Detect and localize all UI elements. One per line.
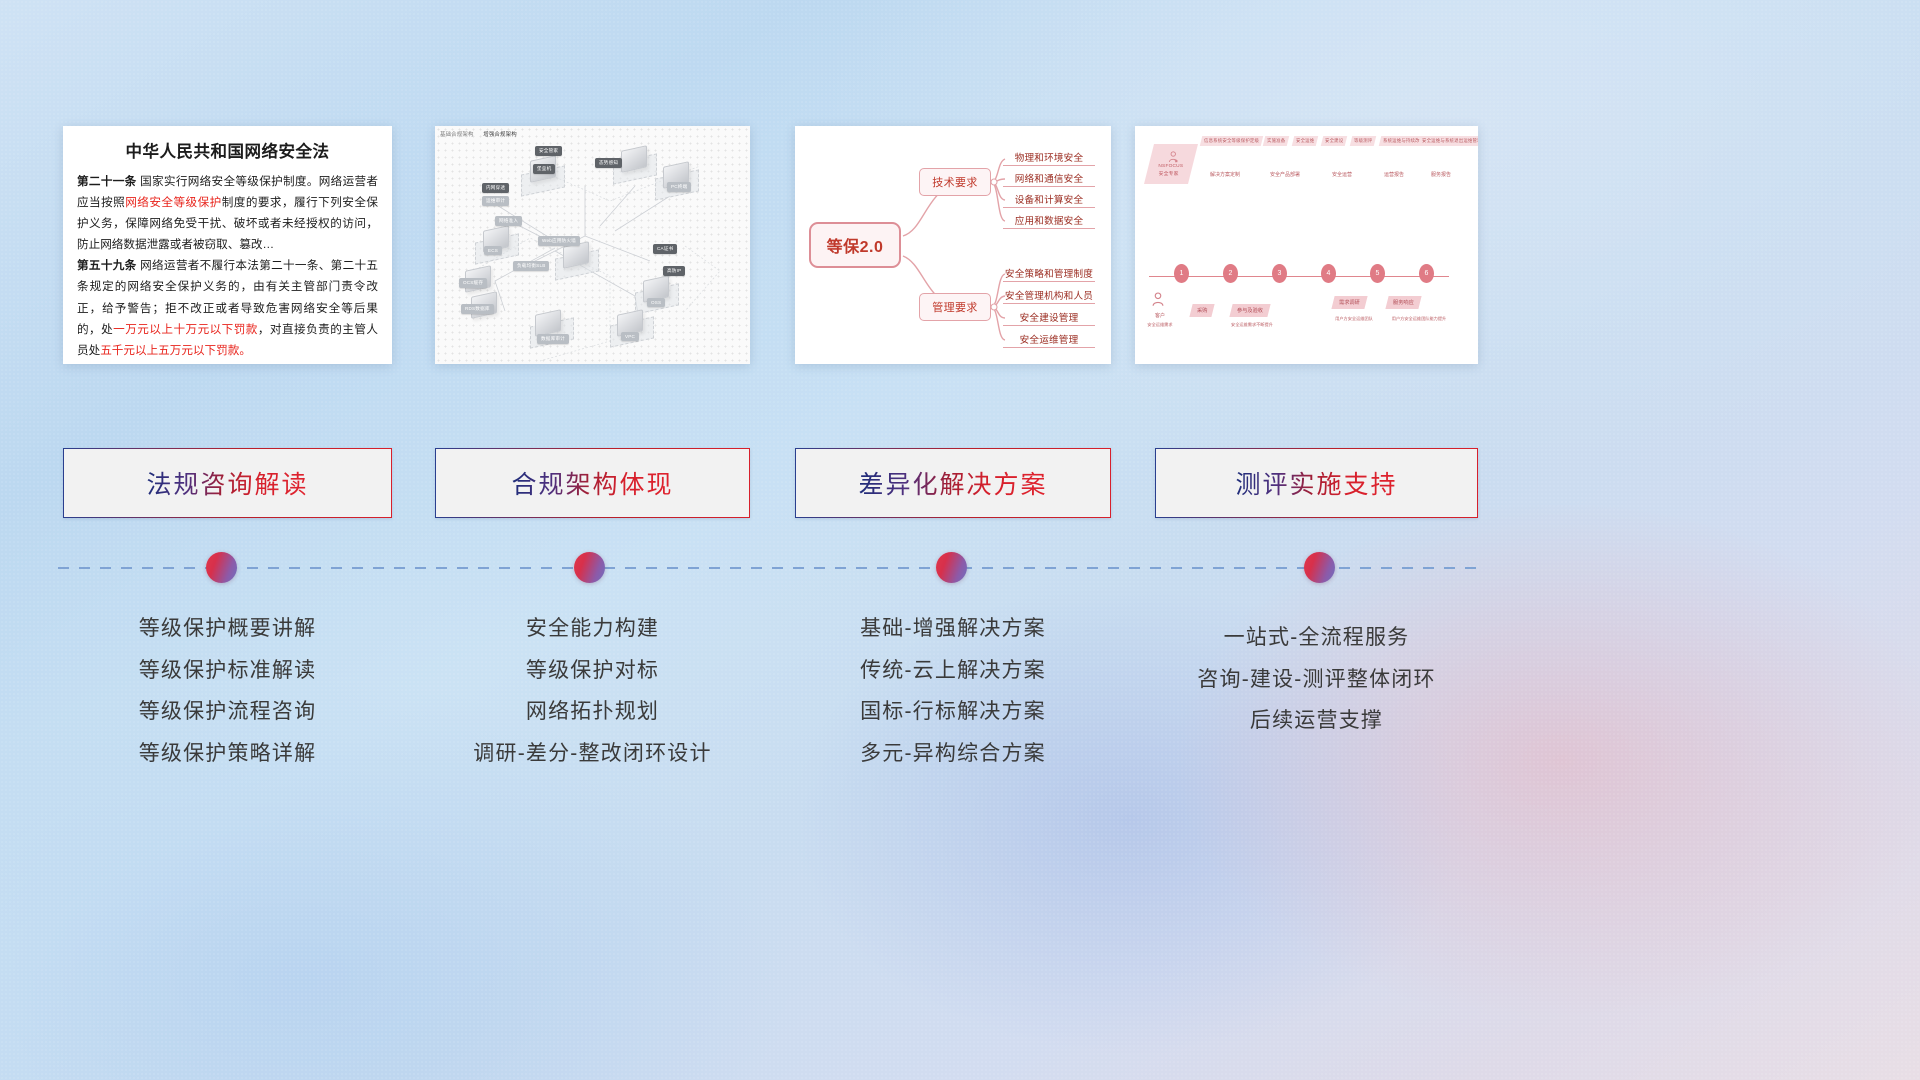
card-compliance-architecture[interactable]: 基础合规架构 增强合规架构 — [435, 126, 750, 364]
arch-chip: ECS — [484, 246, 502, 255]
customer-icon — [1151, 292, 1165, 310]
timeline-dot-2[interactable] — [574, 552, 605, 583]
arch-chip: 态势感知 — [595, 158, 622, 168]
timeline-top-chip: 等级测评 — [1350, 136, 1377, 146]
detail-list-regulation-consulting: 等级保护概要讲解 等级保护标准解读 等级保护流程咨询 等级保护策略详解 — [63, 608, 392, 774]
arch-chip: 数据库审计 — [537, 334, 569, 344]
timeline-top-chip: 安全运维与系统退出运维管理 — [1418, 136, 1478, 146]
timeline-dot-4[interactable] — [1304, 552, 1335, 583]
timeline-phase-label: 安全产品部署 — [1259, 171, 1311, 178]
expert-badge: NSFOCUS 安全专家 — [1144, 144, 1198, 184]
article-21-highlight: 网络安全等级保护 — [125, 196, 221, 209]
detail-list-assessment-support: 一站式-全流程服务 咨询-建设-测评整体闭环 后续运营支撑 — [1155, 617, 1478, 742]
timeline-phase-label: 运营报告 — [1371, 171, 1417, 178]
timeline-top-chip: 安全运维 — [1292, 136, 1319, 146]
timeline-top-chip: 信息系统安全等级保护定级 — [1200, 136, 1264, 146]
mindmap-branch-technical[interactable]: 技术要求 — [919, 168, 991, 196]
mindmap-leaf: 安全建设管理 — [1003, 308, 1095, 326]
timeline-top-chip: 安全建设 — [1321, 136, 1348, 146]
timeline-bottom-note: 安全运维需求不断提升 — [1221, 322, 1283, 328]
arch-chip: 安全管家 — [535, 146, 562, 156]
list-item: 一站式-全流程服务 — [1155, 617, 1478, 659]
timeline-node[interactable]: 5 — [1370, 264, 1385, 283]
detail-list-differentiated-solution: 基础-增强解决方案 传统-云上解决方案 国标-行标解决方案 多元-异构综合方案 — [795, 608, 1111, 774]
list-item: 国标-行标解决方案 — [795, 691, 1111, 733]
arch-chip: Web应用防火墙 — [538, 236, 580, 246]
list-item: 传统-云上解决方案 — [795, 650, 1111, 692]
list-item: 多元-异构综合方案 — [795, 733, 1111, 775]
arch-chip: PC终端 — [667, 182, 691, 192]
image-card-row: 中华人民共和国网络安全法 第二十一条 国家实行网络安全等级保护制度。网络运营者应… — [0, 126, 1920, 364]
arch-chip: CA证书 — [653, 244, 677, 254]
heading-text: 测评实施支持 — [1235, 465, 1397, 501]
arch-chip: 堡垒机 — [533, 164, 555, 174]
law-content: 中华人民共和国网络安全法 第二十一条 国家实行网络安全等级保护制度。网络运营者应… — [63, 126, 392, 364]
timeline-top-chip: 实施准备 — [1263, 136, 1290, 146]
timeline-bottom-tag: 参与及验收 — [1229, 304, 1270, 317]
timeline-bottom-tag: 服务响应 — [1385, 296, 1421, 309]
arch-chip: 负载均衡SLB — [513, 261, 549, 271]
expert-badge-line2: 安全专家 — [1159, 170, 1179, 177]
timeline-node[interactable]: 2 — [1223, 264, 1238, 283]
architecture-tabs[interactable]: 基础合规架构 增强合规架构 — [440, 130, 525, 138]
architecture-diagram: 基础合规架构 增强合规架构 — [435, 126, 750, 364]
heading-text: 法规咨询解读 — [146, 465, 308, 501]
arch-chip: 网络准入 — [495, 216, 522, 226]
list-item: 安全能力构建 — [435, 608, 750, 650]
arch-chip: 内网穿透 — [482, 183, 509, 193]
timeline-bottom-note: 用户方安全运维团队 — [1321, 316, 1387, 322]
timeline-node[interactable]: 6 — [1419, 264, 1434, 283]
customer-label: 客户 — [1145, 312, 1175, 319]
timeline-dashed-line — [58, 567, 1482, 569]
detail-list-compliance-architecture: 安全能力构建 等级保护对标 网络拓扑规划 调研-差分-整改闭环设计 — [435, 608, 750, 774]
timeline-infographic: NSFOCUS 安全专家 信息系统安全等级保护定级 实施准备 安全运维 安全建设… — [1135, 126, 1478, 364]
mindmap-leaf: 应用和数据安全 — [1003, 211, 1095, 229]
mindmap-root-node[interactable]: 等保2.0 — [809, 222, 901, 268]
timeline-dot-3[interactable] — [936, 552, 967, 583]
list-item: 等级保护流程咨询 — [63, 691, 392, 733]
mindmap-leaf: 物理和环境安全 — [1003, 148, 1095, 166]
list-item: 等级保护标准解读 — [63, 650, 392, 692]
timeline-node[interactable]: 4 — [1321, 264, 1336, 283]
card-assessment-timeline[interactable]: NSFOCUS 安全专家 信息系统安全等级保护定级 实施准备 安全运维 安全建设… — [1135, 126, 1478, 364]
timeline-node[interactable]: 3 — [1272, 264, 1287, 283]
timeline-node[interactable]: 1 — [1174, 264, 1189, 283]
article-59-highlight-2: 五千元以上五万元以下罚款。 — [100, 344, 251, 357]
heading-box-assessment-support[interactable]: 测评实施支持 — [1155, 448, 1478, 518]
timeline-bottom-tag: 需求调研 — [1331, 296, 1367, 309]
arch-tab-enhanced[interactable]: 增强合规架构 — [483, 132, 517, 138]
expert-badge-line1: NSFOCUS — [1158, 164, 1183, 169]
article-21-label: 第二十一条 — [77, 175, 137, 188]
arch-chip: OSS — [647, 298, 665, 307]
law-article-59: 第五十九条 网络运营者不履行本法第二十一条、第二十五条规定的网络安全保护义务的，… — [77, 255, 378, 360]
list-item: 等级保护概要讲解 — [63, 608, 392, 650]
arch-chip: RDS数据库 — [461, 304, 494, 314]
mindmap-leaf: 安全管理机构和人员 — [1003, 286, 1095, 304]
law-title: 中华人民共和国网络安全法 — [77, 138, 378, 162]
list-item: 等级保护对标 — [435, 650, 750, 692]
arch-chip: OCS缓存 — [459, 278, 487, 288]
timeline-bottom-tag: 采购 — [1189, 304, 1215, 317]
heading-row: 法规咨询解读 合规架构体现 差异化解决方案 测评实施支持 — [0, 448, 1920, 518]
arch-chip: 高防IP — [663, 266, 685, 276]
mindmap-branch-management[interactable]: 管理要求 — [919, 293, 991, 321]
timeline-phase-label: 安全运营 — [1319, 171, 1365, 178]
timeline-bottom-note: 用户方安全运维团队能力提升 — [1383, 316, 1455, 322]
list-item: 基础-增强解决方案 — [795, 608, 1111, 650]
list-item: 调研-差分-整改闭环设计 — [435, 733, 750, 775]
mindmap-leaf: 安全运维管理 — [1003, 330, 1095, 348]
list-item: 后续运营支撑 — [1155, 700, 1478, 742]
heading-box-regulation-consulting[interactable]: 法规咨询解读 — [63, 448, 392, 518]
heading-text: 差异化解决方案 — [858, 465, 1047, 501]
arch-chip: VPC — [621, 332, 639, 341]
arch-tab-basic[interactable]: 基础合规架构 — [440, 132, 474, 138]
customer-note: 安全运维需求 — [1139, 322, 1181, 328]
timeline-phase-label: 服务报告 — [1419, 171, 1463, 178]
expert-icon — [1167, 151, 1178, 163]
customer-person-icon — [1151, 292, 1165, 307]
heading-box-differentiated-solution[interactable]: 差异化解决方案 — [795, 448, 1111, 518]
heading-box-compliance-architecture[interactable]: 合规架构体现 — [435, 448, 750, 518]
mindmap-leaf: 安全策略和管理制度 — [1003, 264, 1095, 282]
mindmap-leaf: 网络和通信安全 — [1003, 169, 1095, 187]
mindmap-leaf: 设备和计算安全 — [1003, 190, 1095, 208]
heading-text: 合规架构体现 — [511, 465, 673, 501]
timeline-phase-label: 解决方案定制 — [1199, 171, 1251, 178]
list-item: 等级保护策略详解 — [63, 733, 392, 775]
card-cybersecurity-law[interactable]: 中华人民共和国网络安全法 第二十一条 国家实行网络安全等级保护制度。网络运营者应… — [63, 126, 392, 364]
timeline-dot-1[interactable] — [206, 552, 237, 583]
mindmap-diagram: 等保2.0 技术要求 管理要求 物理和环境安全 网络和通信安全 设备和计算安全 … — [795, 126, 1111, 364]
card-mindmap-dengbao[interactable]: 等保2.0 技术要求 管理要求 物理和环境安全 网络和通信安全 设备和计算安全 … — [795, 126, 1111, 364]
list-item: 咨询-建设-测评整体闭环 — [1155, 659, 1478, 701]
article-59-highlight-1: 一万元以上十万元以下罚款 — [113, 323, 258, 336]
timeline-axis — [1149, 276, 1449, 277]
arch-chip: 运维审计 — [482, 196, 509, 206]
article-59-label: 第五十九条 — [77, 259, 137, 272]
list-item: 网络拓扑规划 — [435, 691, 750, 733]
law-article-21: 第二十一条 国家实行网络安全等级保护制度。网络运营者应当按照网络安全等级保护制度… — [77, 171, 378, 255]
